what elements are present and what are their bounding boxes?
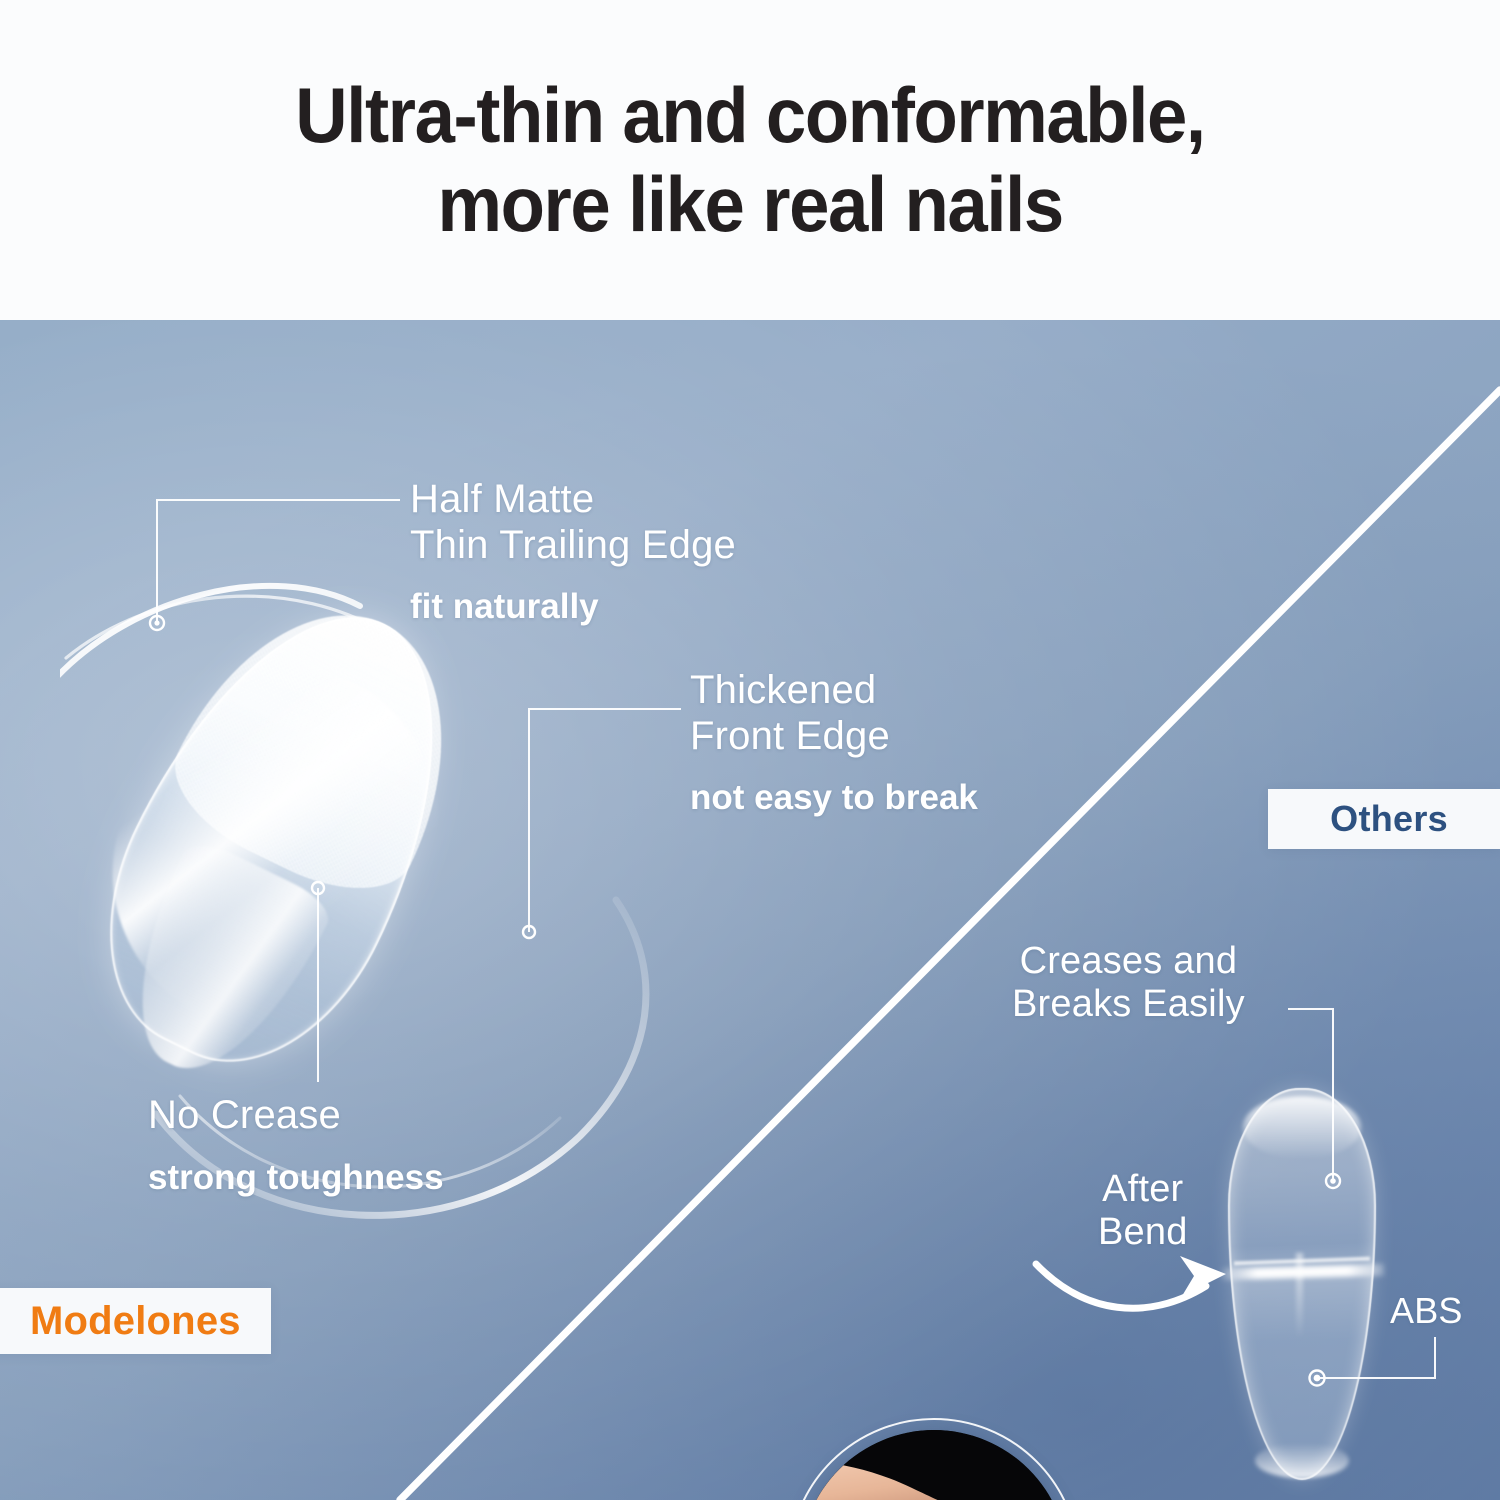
callout-title-line-1: Thickened — [690, 668, 978, 714]
callout-thickened-front-edge: Thickened Front Edge not easy to break — [690, 668, 978, 819]
callout-subtitle: not easy to break — [690, 777, 978, 819]
callout-subtitle: fit naturally — [410, 586, 736, 628]
callout-title-line-1: After — [1098, 1168, 1188, 1211]
callout-title-line-2: Breaks Easily — [1012, 983, 1245, 1026]
page-title-line-1: Ultra-thin and conformable, — [295, 71, 1204, 160]
brand-badge-label: Modelones — [30, 1299, 241, 1344]
header-banner: Ultra-thin and conformable, more like re… — [0, 0, 1500, 320]
nail-rim-outline — [1228, 1088, 1376, 1480]
page-title-line-2: more like real nails — [437, 160, 1062, 249]
callout-after-bend: After Bend — [1098, 1168, 1188, 1255]
callout-title-line-1: ABS — [1390, 1290, 1463, 1331]
brand-badge-modelones: Modelones — [0, 1288, 271, 1354]
callout-title-line-1: Creases and — [1012, 940, 1245, 983]
bend-demo-photo-inset — [800, 1430, 1068, 1500]
comparison-badge-label: Others — [1330, 798, 1448, 840]
callout-creases-and-breaks: Creases and Breaks Easily — [1012, 940, 1245, 1027]
callout-half-matte: Half Matte Thin Trailing Edge fit natura… — [410, 477, 736, 628]
callout-no-crease: No Crease strong toughness — [148, 1093, 444, 1199]
callout-title-line-1: No Crease — [148, 1093, 444, 1139]
callout-title-line-2: Thin Trailing Edge — [410, 523, 736, 569]
modelones-nail-illustration — [60, 540, 700, 1340]
comparison-badge-others: Others — [1268, 789, 1500, 849]
callout-title-line-2: Front Edge — [690, 714, 978, 760]
callout-title-line-2: Bend — [1098, 1211, 1188, 1254]
abs-nail-tip-shape — [1228, 1088, 1376, 1480]
callout-title-line-1: Half Matte — [410, 477, 736, 523]
infographic-page: Ultra-thin and conformable, more like re… — [0, 0, 1500, 1500]
callout-material-abs: ABS — [1390, 1290, 1463, 1331]
callout-subtitle: strong toughness — [148, 1157, 444, 1199]
